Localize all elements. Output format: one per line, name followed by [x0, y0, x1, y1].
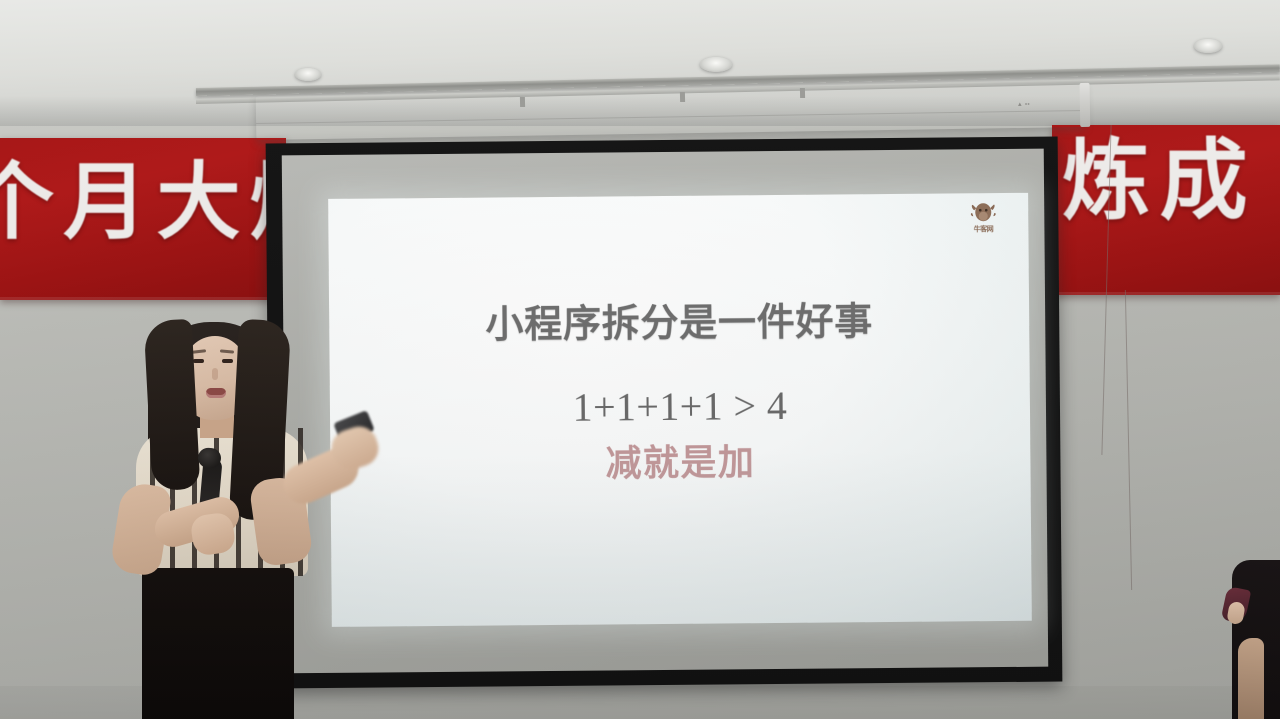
presenter-mouth	[206, 388, 226, 398]
presenter-nose	[212, 368, 218, 380]
ceiling-spotlight-center-icon	[700, 57, 732, 72]
banner-right-text: 炼成	[1062, 137, 1257, 225]
presenter-eye	[222, 359, 233, 363]
projector-screen-surface: 牛客网 小程序拆分是一件好事 1+1+1+1 > 4 减就是加	[282, 149, 1048, 674]
banner-left: 个月大炼	[0, 138, 286, 300]
presenter-skirt	[142, 568, 294, 719]
banner-right-edge	[1052, 292, 1280, 295]
banner-left-edge	[0, 297, 286, 300]
slide-logo: 牛客网	[966, 201, 1000, 241]
projected-slide: 牛客网 小程序拆分是一件好事 1+1+1+1 > 4 减就是加	[328, 193, 1032, 627]
slide-subtitle: 减就是加	[330, 431, 1030, 489]
bystander-arm	[1238, 638, 1264, 719]
ox-head-icon	[970, 201, 996, 223]
presenter	[96, 316, 396, 719]
presentation-scene: 个月大炼 炼成 ▲ ▪▪	[0, 0, 1280, 719]
roller-seam	[256, 110, 1086, 124]
roller-label: ▲ ▪▪	[1017, 102, 1030, 108]
presenter-hair-left	[144, 319, 201, 491]
presenter-eye	[193, 359, 204, 363]
slide-equation: 1+1+1+1 > 4	[330, 380, 1030, 433]
ceiling-spotlight-left-icon	[295, 68, 321, 81]
banner-left-text: 个月大炼	[0, 160, 286, 244]
banner-right: 炼成	[1052, 125, 1280, 295]
roller-end-cap	[1080, 83, 1091, 127]
slide-title: 小程序拆分是一件好事	[329, 289, 1029, 350]
bystander	[1222, 560, 1280, 719]
slide-logo-caption: 牛客网	[966, 224, 1000, 234]
ceiling-spotlight-right-icon	[1194, 39, 1222, 53]
